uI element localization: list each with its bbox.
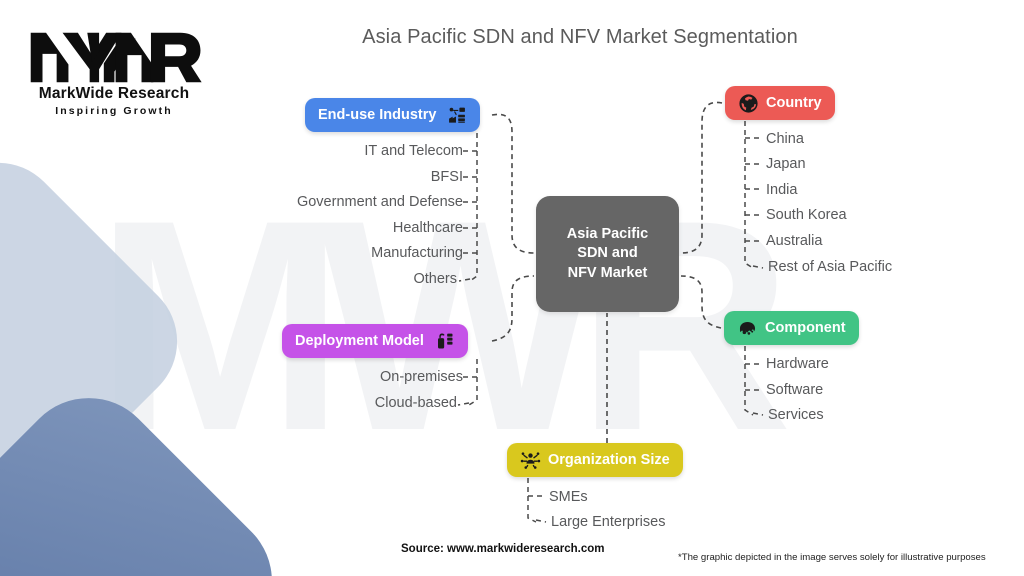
branch-badge-country[interactable]: Country (725, 86, 835, 120)
component-chip-icon (737, 318, 758, 339)
leaf-india[interactable]: India (766, 182, 797, 198)
leaf-bfsi[interactable]: BFSI (233, 169, 463, 185)
leaf-manufacturing[interactable]: Manufacturing (233, 245, 463, 261)
leaf-healthcare[interactable]: Healthcare (233, 220, 463, 236)
branch-label: Deployment Model (295, 333, 424, 349)
center-node[interactable]: Asia Pacific SDN and NFV Market (536, 196, 679, 312)
center-node-label: Asia Pacific SDN and NFV Market (567, 225, 648, 283)
branch-badge-organization-size[interactable]: Organization Size (507, 443, 683, 477)
leaf-it-and-telecom[interactable]: IT and Telecom (233, 143, 463, 159)
branch-label: End-use Industry (318, 107, 436, 123)
leaf-government-and-defense[interactable]: Government and Defense (233, 194, 463, 210)
org-network-icon (520, 450, 541, 471)
branch-label: Component (765, 320, 846, 336)
leaf-on-premises[interactable]: On-premises (233, 369, 463, 385)
leaf-cloud-based[interactable]: Cloud-based (233, 395, 457, 411)
leaf-others[interactable]: Others (233, 271, 457, 287)
source-label: Source: www.markwideresearch.com (401, 543, 604, 555)
leaf-services[interactable]: Services (768, 407, 824, 423)
infographic-canvas: MWR MarkWide Research Inspiring Growth A… (0, 0, 1024, 576)
leaf-australia[interactable]: Australia (766, 233, 822, 249)
leaf-smes[interactable]: SMEs (549, 489, 588, 505)
leaf-software[interactable]: Software (766, 382, 823, 398)
server-lock-icon (435, 331, 455, 351)
leaf-rest-of-asia-pacific[interactable]: Rest of Asia Pacific (768, 259, 892, 275)
leaf-japan[interactable]: Japan (766, 156, 806, 172)
branch-label: Organization Size (548, 452, 670, 468)
connector-lines (0, 0, 1024, 576)
leaf-hardware[interactable]: Hardware (766, 356, 829, 372)
branch-badge-end-use-industry[interactable]: End-use Industry (305, 98, 480, 132)
leaf-china[interactable]: China (766, 131, 804, 147)
disclaimer-text: *The graphic depicted in the image serve… (678, 552, 986, 563)
industry-network-icon (447, 106, 467, 125)
branch-badge-component[interactable]: Component (724, 311, 859, 345)
branch-badge-deployment-model[interactable]: Deployment Model (282, 324, 468, 358)
globe-icon (738, 93, 759, 114)
branch-label: Country (766, 95, 822, 111)
leaf-south-korea[interactable]: South Korea (766, 207, 847, 223)
leaf-large-enterprises[interactable]: Large Enterprises (551, 514, 665, 530)
